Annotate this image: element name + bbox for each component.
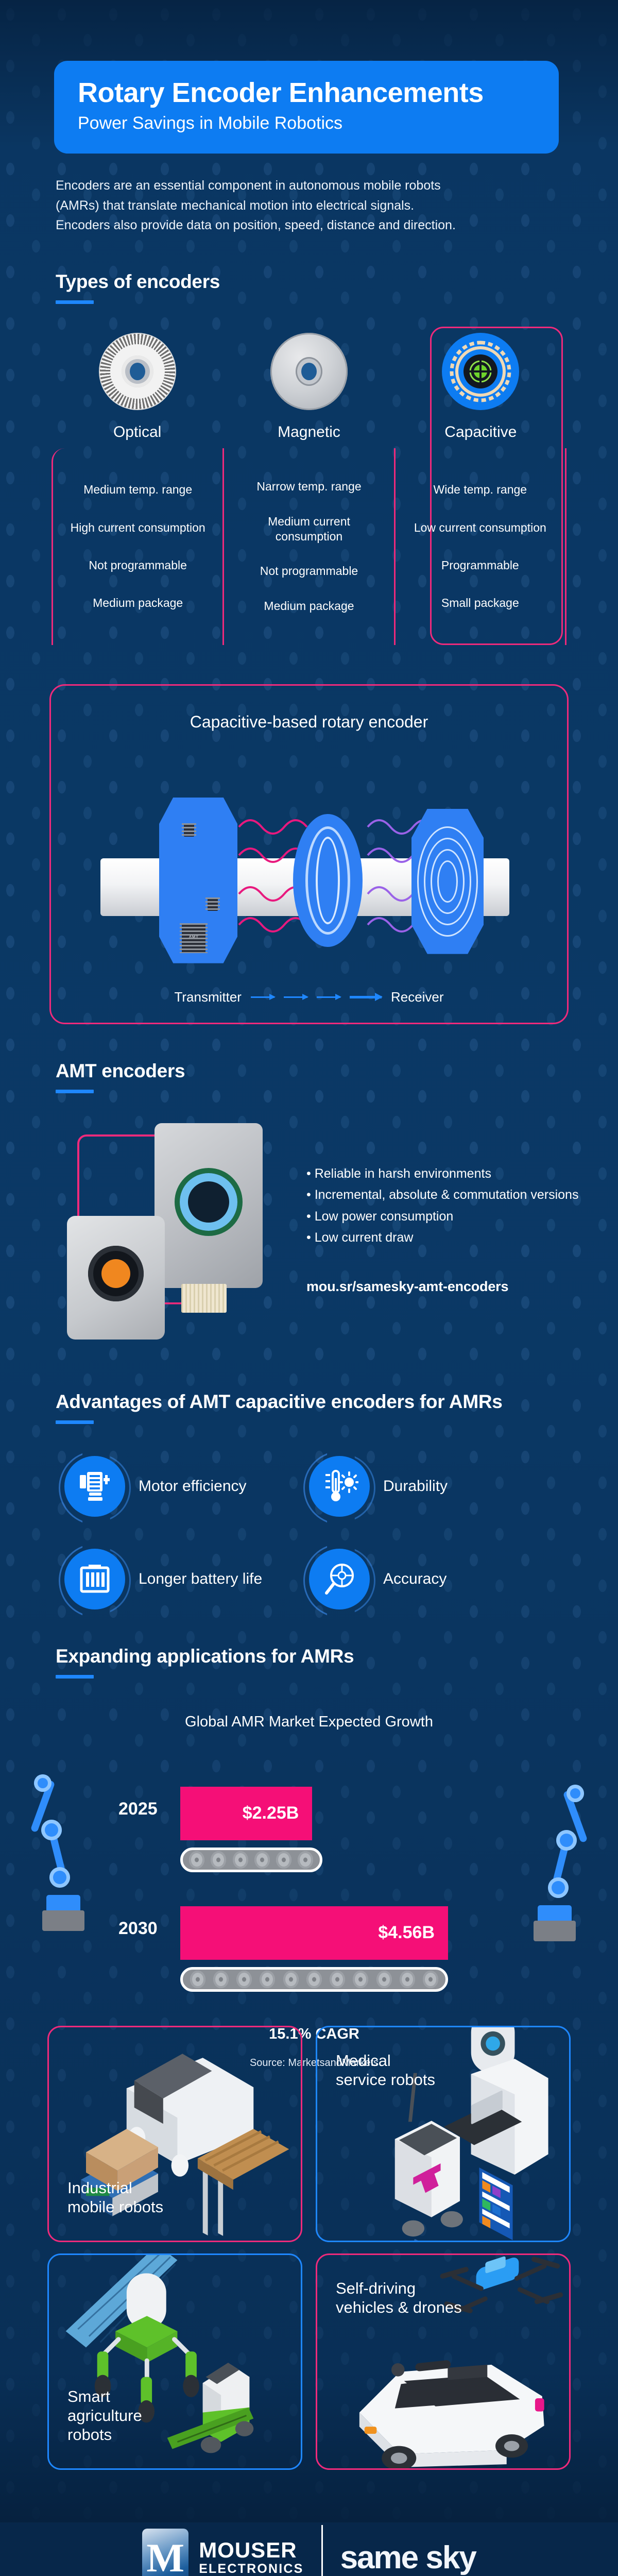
mouser-logo: M MOUSER ELECTRONICS (142, 2529, 303, 2576)
encoder-type-label: Capacitive (444, 423, 517, 441)
transmitter-label: Transmitter (174, 989, 242, 1005)
robot-arm-left-icon (30, 1776, 117, 1931)
mouser-tagline: ELECTRONICS (199, 2562, 303, 2576)
bar-row-2025: 2025 $2.25B (180, 1787, 448, 1872)
diagram-title: Capacitive-based rotary encoder (51, 686, 567, 732)
list-item: Reliable in harsh environments (306, 1164, 585, 1184)
arm-joint (556, 1830, 577, 1851)
advantage-durability: Durability (309, 1456, 554, 1517)
application-label-industrial: Industrial mobile robots (67, 2178, 163, 2216)
encoder-type-label: Optical (113, 423, 161, 441)
application-card-medical: Medical service robots (316, 2026, 571, 2242)
amt-encoder-photo-large (154, 1123, 263, 1288)
label-line-2: service robots (336, 2070, 435, 2089)
label-line-3: robots (67, 2425, 142, 2444)
signal-flow-row: Transmitter Receiver (51, 989, 567, 1005)
section-header-amt: AMT encoders (56, 1060, 618, 1093)
magnifier-target-icon (309, 1549, 370, 1609)
encoder-type-capacitive: Capacitive (395, 333, 566, 441)
bar-category-label: 2030 (118, 1919, 158, 1939)
label-line-2: vehicles & drones (336, 2298, 462, 2317)
encoder-comparison-table: Medium temp. range High current consumpt… (51, 448, 566, 645)
bar-2030: $4.56B (180, 1906, 448, 1960)
roller (260, 1971, 275, 1988)
footer: M MOUSER ELECTRONICS same sky (0, 2499, 618, 2576)
advantage-label: Accuracy (383, 1570, 447, 1588)
section-title-applications: Expanding applications for AMRs (56, 1646, 618, 1667)
label-line-1: Medical (336, 2051, 435, 2070)
encoder-hub (88, 1246, 144, 1301)
spec-cell: Not programmable (89, 558, 186, 573)
application-cards-grid: Industrial mobile robots (47, 2026, 571, 2470)
roller (330, 1971, 345, 1988)
page-title: Rotary Encoder Enhancements (78, 78, 535, 108)
label-line-1: Self-driving (336, 2279, 462, 2298)
advantage-label: Motor efficiency (139, 1478, 247, 1495)
roller (276, 1851, 291, 1869)
comparison-column-optical: Medium temp. range High current consumpt… (51, 448, 222, 645)
application-label-agriculture: Smart agriculture robots (67, 2387, 142, 2445)
arm-base (534, 1921, 576, 1941)
section-header-types: Types of encoders (56, 271, 618, 304)
spec-cell: Medium package (93, 596, 183, 611)
arm-joint (41, 1820, 62, 1840)
footer-divider (321, 2525, 323, 2576)
intro-line-3: Encoders also provide data on position, … (56, 216, 581, 235)
bar-value-label: $4.56B (378, 1923, 435, 1943)
bar-row-2030: 2030 $4.56B (180, 1906, 448, 1992)
amt-feature-list: Reliable in harsh environments Increment… (306, 1164, 585, 1250)
amt-chip: AMT (182, 923, 205, 953)
disc-hub (301, 363, 317, 380)
spec-cell: Programmable (441, 558, 519, 573)
section-rule (56, 1090, 94, 1093)
advantage-battery-life: Longer battery life (64, 1549, 309, 1609)
roller (298, 1851, 313, 1869)
rotor-disc (293, 814, 363, 947)
capacitive-encoder-diagram-card: Capacitive-based rotary encoder AMT (49, 684, 569, 1024)
amt-encoder-photo-small (67, 1216, 165, 1340)
smd-chip (208, 897, 218, 911)
roller (283, 1971, 299, 1988)
label-line-1: Smart (67, 2387, 142, 2406)
receiver-label: Receiver (391, 989, 444, 1005)
page-subtitle: Power Savings in Mobile Robotics (78, 114, 535, 133)
application-card-industrial: Industrial mobile robots (47, 2026, 302, 2242)
encoder-type-magnetic: Magnetic (223, 333, 394, 441)
receiver-rings (417, 825, 478, 938)
list-item: Low power consumption (306, 1207, 585, 1227)
advantages-grid: Motor efficiency (64, 1456, 554, 1609)
flow-arrow-icon (350, 996, 382, 998)
title-card: Rotary Encoder Enhancements Power Saving… (54, 61, 559, 154)
arm-base (42, 1910, 84, 1931)
amt-encoders-section: Reliable in harsh environments Increment… (0, 1108, 618, 1355)
section-title-types: Types of encoders (56, 271, 618, 293)
optical-disc-icon (99, 333, 176, 410)
disc-hub (130, 363, 145, 380)
motor-icon (64, 1456, 125, 1517)
arm-plinth (538, 1905, 572, 1923)
spec-cell: Small package (441, 596, 519, 611)
arm-joint (566, 1785, 584, 1802)
comparison-column-capacitive: Wide temp. range Low current consumption… (394, 448, 566, 645)
encoder-bore (180, 1173, 237, 1231)
intro-paragraph: Encoders are an essential component in a… (56, 176, 581, 235)
ribbon-connector (181, 1284, 227, 1313)
section-title-amt: AMT encoders (56, 1060, 618, 1082)
robot-arm-right-icon (501, 1787, 588, 1941)
comparison-column-magnetic: Narrow temp. range Medium current consum… (222, 448, 393, 645)
conveyor-2030 (180, 1967, 448, 1992)
section-title-advantages: Advantages of AMT capacitive encoders fo… (56, 1391, 618, 1413)
roller (236, 1971, 252, 1988)
encoder-types-section: Optical Magnetic (0, 321, 618, 662)
spec-cell: Wide temp. range (434, 482, 527, 497)
arm-plinth (46, 1895, 80, 1912)
roller (254, 1851, 270, 1869)
list-item: Incremental, absolute & commutation vers… (306, 1185, 585, 1205)
roller (211, 1851, 226, 1869)
encoder-type-icons-row: Optical Magnetic (51, 333, 566, 441)
magnetic-disc-icon (270, 333, 348, 410)
spec-cell: Narrow temp. range (256, 479, 361, 494)
chart-title: Global AMR Market Expected Growth (0, 1699, 618, 1731)
roller (400, 1971, 415, 1988)
thermometer-sun-icon (309, 1456, 370, 1517)
spec-cell: Medium current consumption (233, 514, 384, 544)
spec-cell: Low current consumption (414, 520, 546, 535)
samesky-logo: same sky (340, 2539, 476, 2576)
advantage-label: Durability (383, 1478, 448, 1495)
label-line-1: Industrial (67, 2178, 163, 2197)
encoder-type-optical: Optical (51, 333, 223, 441)
application-card-selfdriving: Self-driving vehicles & drones (316, 2253, 571, 2470)
arm-joint (548, 1877, 569, 1898)
infographic-page: Rotary Encoder Enhancements Power Saving… (0, 0, 618, 2576)
roller (423, 1971, 438, 1988)
arm-joint (34, 1774, 51, 1792)
advantage-label: Longer battery life (139, 1570, 262, 1588)
conveyor-2025 (180, 1848, 322, 1872)
flow-arrow-icon (251, 996, 274, 998)
roller (213, 1971, 229, 1988)
flow-arrow-icon (284, 996, 307, 998)
application-label-selfdriving: Self-driving vehicles & drones (336, 2279, 462, 2317)
roller (189, 1851, 204, 1869)
section-header-advantages: Advantages of AMT capacitive encoders fo… (56, 1391, 618, 1424)
label-line-2: mobile robots (67, 2197, 163, 2216)
section-rule (56, 1675, 94, 1679)
bar-value-label: $2.25B (243, 1803, 299, 1823)
arm-joint (49, 1867, 70, 1888)
amr-market-chart: Global AMR Market Expected Growth 2025 $ (0, 1699, 618, 2008)
amt-chip-label: AMT (188, 935, 199, 941)
spec-cell: Medium temp. range (83, 482, 192, 497)
spec-cell: High current consumption (71, 520, 205, 535)
mouser-wordmark: MOUSER ELECTRONICS (199, 2539, 303, 2576)
advantage-motor-efficiency: Motor efficiency (64, 1456, 309, 1517)
encoder-type-label: Magnetic (278, 423, 340, 441)
battery-icon (64, 1549, 125, 1609)
intro-line-1: Encoders are an essential component in a… (56, 176, 581, 195)
label-line-2: agriculture (67, 2406, 142, 2425)
rotor-ring-inner (316, 837, 340, 924)
section-rule (56, 1420, 94, 1424)
smd-chip (184, 823, 194, 837)
flow-arrow-icon (317, 996, 340, 998)
spec-cell: Not programmable (260, 564, 358, 579)
transmitter-board: AMT (159, 798, 237, 963)
capacitive-disc-icon (442, 333, 519, 410)
bar-category-label: 2025 (118, 1799, 158, 1819)
mouser-name: MOUSER (199, 2539, 303, 2562)
section-header-applications: Expanding applications for AMRs (56, 1646, 618, 1679)
diagram-illustration: AMT (51, 737, 567, 958)
mouser-m-mark-icon: M (142, 2529, 188, 2576)
advantage-accuracy: Accuracy (309, 1549, 554, 1609)
header: Rotary Encoder Enhancements Power Saving… (0, 0, 618, 235)
roller (376, 1971, 392, 1988)
application-label-medical: Medical service robots (336, 2051, 435, 2089)
intro-line-2: (AMRs) that translate mechanical motion … (56, 196, 581, 215)
ring (437, 860, 458, 903)
roller (353, 1971, 368, 1988)
roller (306, 1971, 322, 1988)
spec-cell: Medium package (264, 599, 354, 614)
list-item: Low current draw (306, 1228, 585, 1248)
amt-product-url[interactable]: mou.sr/samesky-amt-encoders (306, 1279, 508, 1295)
section-rule (56, 300, 94, 304)
roller (190, 1971, 205, 1988)
roller (233, 1851, 248, 1869)
application-card-agriculture: Smart agriculture robots (47, 2253, 302, 2470)
bar-2025: $2.25B (180, 1787, 312, 1840)
